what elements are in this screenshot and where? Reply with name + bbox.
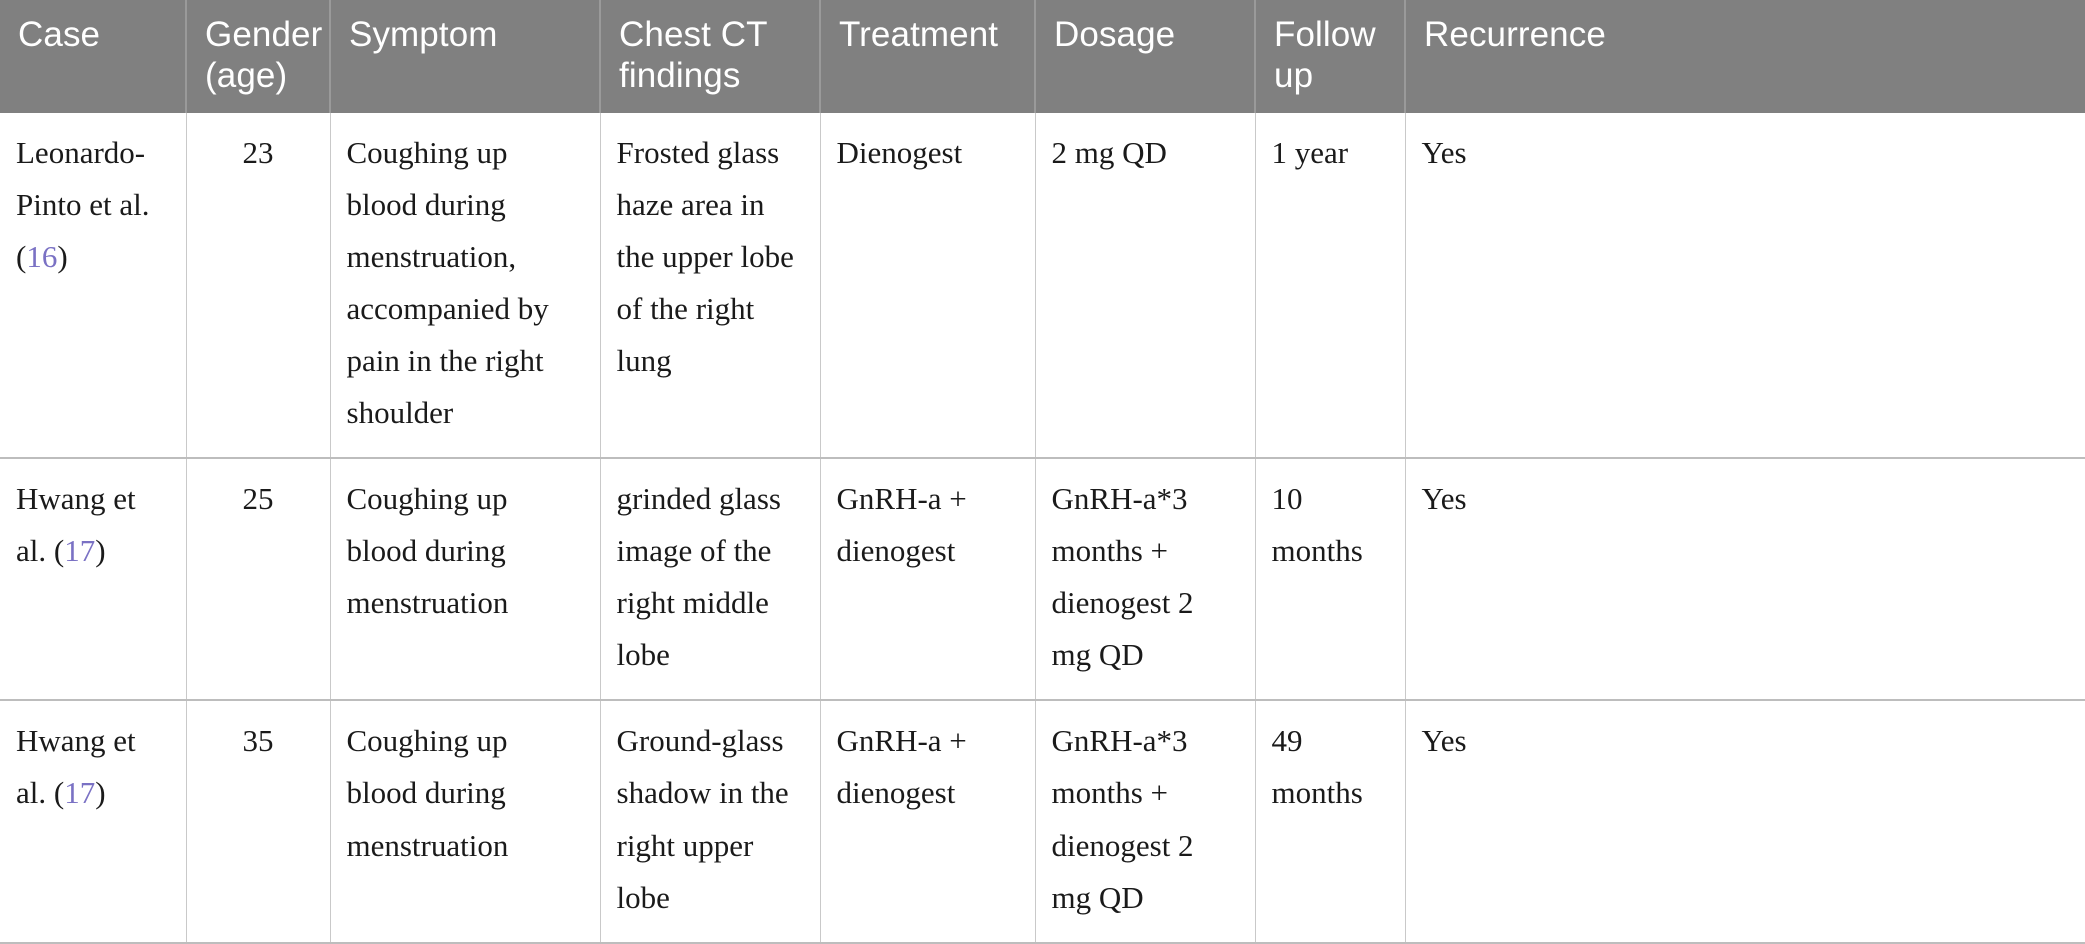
cell-gender-age: 35 xyxy=(186,700,330,942)
table-header: Case Gender (age) Symptom Chest CT findi… xyxy=(0,0,2085,113)
cell-follow-up: 10 months xyxy=(1255,458,1405,700)
table-container: Case Gender (age) Symptom Chest CT findi… xyxy=(0,0,2085,667)
cell-symptom: Coughing up blood during menstruation, a… xyxy=(330,113,600,458)
citation-paren-open: ( xyxy=(16,239,26,274)
case-summary-table: Case Gender (age) Symptom Chest CT findi… xyxy=(0,0,2085,944)
case-author: Leonardo-Pinto et al. xyxy=(16,135,149,222)
citation-paren-open: ( xyxy=(54,533,64,568)
cell-recurrence: Yes xyxy=(1405,458,2085,700)
column-header-symptom: Symptom xyxy=(330,0,600,113)
citation-link[interactable]: 17 xyxy=(64,533,95,568)
cell-dosage: 2 mg QD xyxy=(1035,113,1255,458)
column-header-treatment: Treatment xyxy=(820,0,1035,113)
cell-case: Hwang et al. (17) xyxy=(0,700,186,942)
cell-treatment: GnRH-a + dienogest xyxy=(820,700,1035,942)
table-row: Leonardo-Pinto et al. (16) 23 Coughing u… xyxy=(0,113,2085,458)
citation-paren-close: ) xyxy=(95,775,105,810)
citation-link[interactable]: 16 xyxy=(26,239,57,274)
cell-recurrence: Yes xyxy=(1405,700,2085,942)
table-row: Hwang et al. (17) 25 Coughing up blood d… xyxy=(0,458,2085,700)
cell-follow-up: 49 months xyxy=(1255,700,1405,942)
cell-chest-ct: Frosted glass haze area in the upper lob… xyxy=(600,113,820,458)
cell-treatment: Dienogest xyxy=(820,113,1035,458)
column-header-dosage: Dosage xyxy=(1035,0,1255,113)
column-header-gender: Gender (age) xyxy=(186,0,330,113)
column-header-recurrence: Recurrence xyxy=(1405,0,2085,113)
header-row: Case Gender (age) Symptom Chest CT findi… xyxy=(0,0,2085,113)
cell-symptom: Coughing up blood during menstruation xyxy=(330,700,600,942)
cell-dosage: GnRH-a*3 months + dienogest 2 mg QD xyxy=(1035,458,1255,700)
cell-symptom: Coughing up blood during menstruation xyxy=(330,458,600,700)
table-row: Hwang et al. (17) 35 Coughing up blood d… xyxy=(0,700,2085,942)
cell-gender-age: 25 xyxy=(186,458,330,700)
column-header-follow-up: Follow up xyxy=(1255,0,1405,113)
cell-case: Leonardo-Pinto et al. (16) xyxy=(0,113,186,458)
cell-gender-age: 23 xyxy=(186,113,330,458)
column-header-chest-ct: Chest CT findings xyxy=(600,0,820,113)
cell-follow-up: 1 year xyxy=(1255,113,1405,458)
cell-dosage: GnRH-a*3 months + dienogest 2 mg QD xyxy=(1035,700,1255,942)
citation-link[interactable]: 17 xyxy=(64,775,95,810)
table-body: Leonardo-Pinto et al. (16) 23 Coughing u… xyxy=(0,113,2085,943)
citation-paren-open: ( xyxy=(54,775,64,810)
column-header-case: Case xyxy=(0,0,186,113)
cell-recurrence: Yes xyxy=(1405,113,2085,458)
cell-treatment: GnRH-a + dienogest xyxy=(820,458,1035,700)
cell-chest-ct: grinded glass image of the right middle … xyxy=(600,458,820,700)
cell-case: Hwang et al. (17) xyxy=(0,458,186,700)
citation-paren-close: ) xyxy=(95,533,105,568)
citation-paren-close: ) xyxy=(57,239,67,274)
cell-chest-ct: Ground-glass shadow in the right upper l… xyxy=(600,700,820,942)
